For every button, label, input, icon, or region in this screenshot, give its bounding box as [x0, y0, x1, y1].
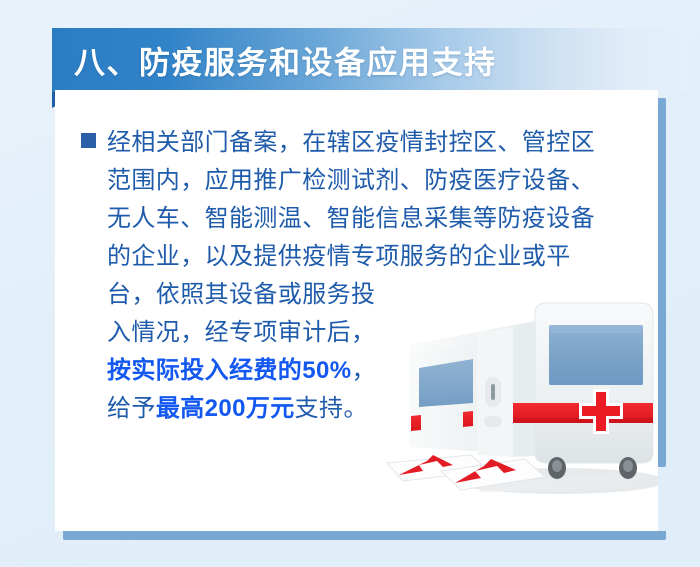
- header-banner: 八、防疫服务和设备应用支持: [52, 28, 688, 92]
- paragraph-line-8-head: 给予: [107, 395, 156, 422]
- body-copy: 经相关部门备案，在辖区疫情封控区、管控区 范围内，应用推广检测试剂、防疫医疗设备…: [81, 124, 621, 428]
- paragraph-line-2: 范围内，应用推广检测试剂、防疫医疗设备、: [107, 162, 621, 200]
- page-title: 八、防疫服务和设备应用支持: [74, 38, 497, 83]
- paragraph-line-7: 按实际投入经费的50%，: [107, 352, 407, 390]
- paragraph-line-7-tail: ，: [351, 357, 375, 384]
- paragraph-line-3: 无人车、智能测温、智能信息采集等防疫设备: [107, 200, 621, 238]
- banner-background: 八、防疫服务和设备应用支持: [52, 28, 688, 92]
- card-shadow-bottom: [63, 531, 666, 540]
- bullet-row: 经相关部门备案，在辖区疫情封控区、管控区 范围内，应用推广检测试剂、防疫医疗设备…: [81, 124, 621, 428]
- poster-root: 八、防疫服务和设备应用支持: [0, 0, 700, 567]
- content-card: 经相关部门备案，在辖区疫情封控区、管控区 范围内，应用推广检测试剂、防疫医疗设备…: [55, 90, 658, 531]
- paragraph-line-1: 经相关部门备案，在辖区疫情封控区、管控区: [107, 124, 621, 162]
- paragraph-line-8: 给予最高200万元支持。: [107, 390, 407, 428]
- paragraph-line-5: 台，依照其设备或服务投: [107, 276, 407, 314]
- booth-wheel-right-inner: [623, 460, 633, 472]
- highlight-amount: 最高200万元: [156, 395, 295, 422]
- booth-wheel-left-inner: [552, 460, 562, 472]
- paragraph-line-6: 入情况，经专项审计后，: [107, 314, 407, 352]
- bullet-square-icon: [81, 133, 96, 148]
- paragraph-line-8-tail: 支持。: [295, 395, 368, 422]
- paragraph-line-4: 的企业，以及提供疫情专项服务的企业或平: [107, 238, 621, 276]
- paragraph: 经相关部门备案，在辖区疫情封控区、管控区 范围内，应用推广检测试剂、防疫医疗设备…: [107, 124, 621, 428]
- card-shadow-right: [657, 98, 666, 467]
- highlight-percentage: 按实际投入经费的50%: [107, 357, 351, 384]
